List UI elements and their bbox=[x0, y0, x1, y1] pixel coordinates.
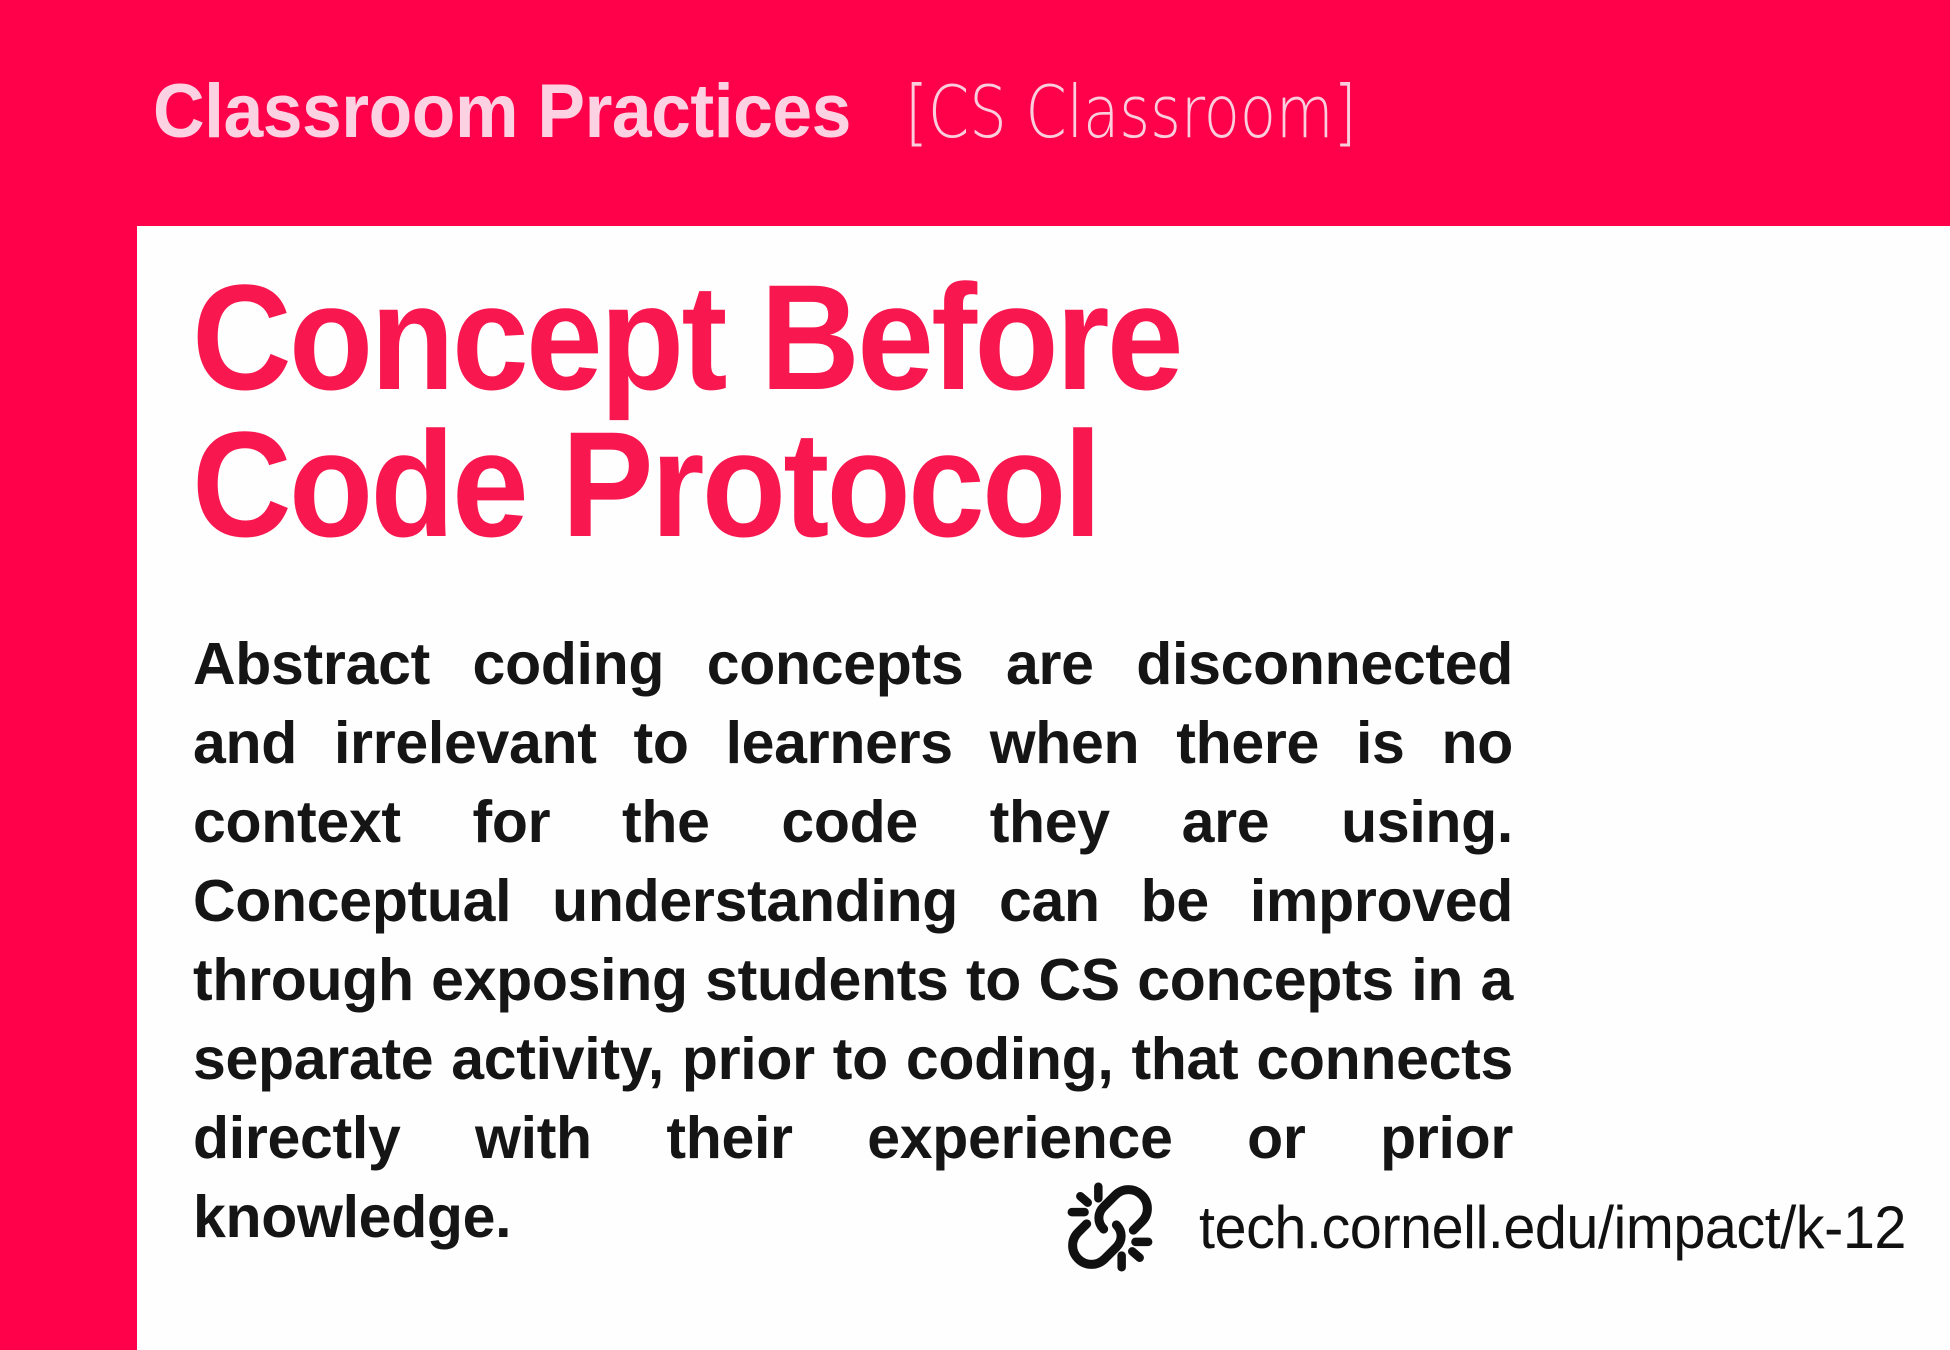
header-kicker: Classroom Practices[CS Classroom] bbox=[153, 74, 1456, 150]
page-title: Concept Before Code Protocol bbox=[192, 264, 1442, 558]
footer-url[interactable]: tech.cornell.edu/impact/k-12 bbox=[1199, 1193, 1906, 1262]
chain-link-icon bbox=[1057, 1174, 1163, 1280]
page-title-line-2: Code Protocol bbox=[192, 411, 1342, 558]
practice-card: Classroom Practices[CS Classroom] Concep… bbox=[0, 0, 1950, 1350]
footer: tech.cornell.edu/impact/k-12 bbox=[1057, 1174, 1935, 1280]
header-kicker-bold: Classroom Practices bbox=[153, 74, 851, 150]
left-red-band bbox=[0, 0, 137, 1350]
page-title-line-1: Concept Before bbox=[192, 264, 1342, 411]
content-panel: Concept Before Code Protocol Abstract co… bbox=[137, 226, 1950, 1350]
header-kicker-light: [CS Classroom] bbox=[905, 76, 1357, 148]
